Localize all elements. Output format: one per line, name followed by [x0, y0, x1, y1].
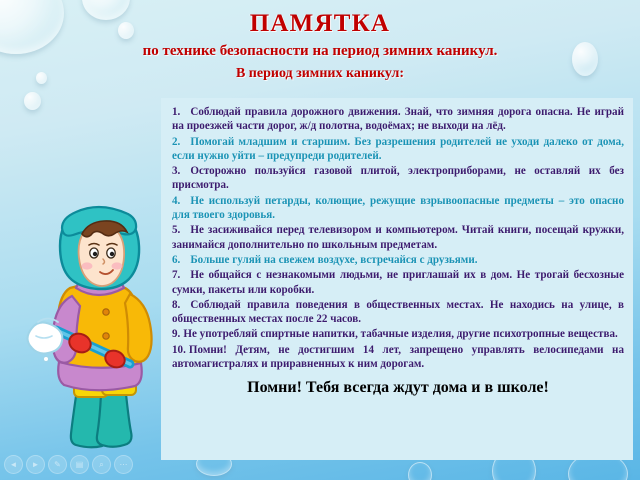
- pen-tool-button[interactable]: ✎: [48, 455, 67, 474]
- safety-rules-panel: 1.Соблюдай правила дорожного движения. З…: [161, 98, 633, 460]
- safety-rule-item: 2.Помогай младшим и старшим. Без разреше…: [172, 135, 624, 164]
- safety-rule-text: Соблюдай правила дорожного движения. Зна…: [172, 106, 624, 132]
- safety-rule-text: Помогай младшим и старшим. Без разрешени…: [172, 136, 624, 162]
- slide-subtitle: по технике безопасности на период зимних…: [0, 43, 640, 60]
- safety-rule-item: 8.Соблюдай правила поведения в обществен…: [172, 298, 624, 327]
- more-options-button[interactable]: ⋯: [114, 455, 133, 474]
- coat-button: [103, 333, 109, 339]
- safety-rule-text: Осторожно пользуйся газовой плитой, элек…: [172, 165, 624, 191]
- slide-subtitle-secondary: В период зимних каникул:: [0, 66, 640, 82]
- safety-rule-text: Больше гуляй на свежем воздухе, встречай…: [190, 254, 477, 266]
- cartoon-child-with-snow-shovel-illustration: [14, 196, 192, 462]
- pupil-right: [110, 252, 114, 256]
- safety-rule-item: 1.Соблюдай правила дорожного движения. З…: [172, 105, 624, 134]
- safety-rule-text: Не общайся с незнакомыми людьми, не приг…: [172, 269, 624, 295]
- safety-rule-item: 10.Помни! Детям, не достигшим 14 лет, за…: [172, 343, 624, 372]
- safety-rule-item: 6.Больше гуляй на свежем воздухе, встреч…: [172, 253, 624, 267]
- safety-rule-number: 3.: [172, 165, 180, 177]
- zoom-button[interactable]: ⌕: [92, 455, 111, 474]
- safety-rule-item: 4.Не используй петарды, колющие, режущие…: [172, 194, 624, 223]
- next-slide-button[interactable]: ►: [26, 455, 45, 474]
- safety-rule-item: 5.Не засиживайся перед телевизором и ком…: [172, 223, 624, 252]
- safety-rule-number: 2.: [172, 136, 180, 148]
- safety-rule-item: 9.Не употребляй спиртные напитки, табачн…: [172, 327, 624, 341]
- safety-rule-text: Не употребляй спиртные напитки, табачные…: [183, 328, 617, 340]
- water-bubble-icon: [408, 462, 432, 480]
- cheek-right: [112, 262, 123, 269]
- slide-heading-block: ПАМЯТКА по технике безопасности на перио…: [0, 10, 640, 82]
- coat-button: [103, 309, 109, 315]
- slide-title: ПАМЯТКА: [0, 10, 640, 38]
- closing-statement: Помни! Тебя всегда ждут дома и в школе!: [172, 378, 624, 397]
- slideshow-toolbar[interactable]: ◄►✎▤⌕⋯: [4, 455, 133, 474]
- previous-slide-button[interactable]: ◄: [4, 455, 23, 474]
- safety-rules-list: 1.Соблюдай правила дорожного движения. З…: [172, 105, 624, 371]
- boot-right: [97, 394, 132, 447]
- presentation-slide: ПАМЯТКА по технике безопасности на перио…: [0, 0, 640, 480]
- safety-rule-text: Помни! Детям, не достигшим 14 лет, запре…: [172, 344, 624, 370]
- safety-rule-text: Не засиживайся перед телевизором и компь…: [172, 224, 624, 250]
- cheek-left: [82, 262, 93, 269]
- safety-rule-text: Не используй петарды, колющие, режущие в…: [172, 195, 624, 221]
- sleeve-right: [125, 294, 152, 362]
- safety-rule-number: 1.: [172, 106, 180, 118]
- pupil-left: [93, 252, 97, 256]
- safety-rule-item: 7.Не общайся с незнакомыми людьми, не пр…: [172, 268, 624, 297]
- falling-snowball: [43, 356, 48, 361]
- safety-rule-text: Соблюдай правила поведения в общественны…: [172, 299, 624, 325]
- slide-menu-button[interactable]: ▤: [70, 455, 89, 474]
- safety-rule-item: 3.Осторожно пользуйся газовой плитой, эл…: [172, 164, 624, 193]
- water-bubble-icon: [24, 92, 41, 110]
